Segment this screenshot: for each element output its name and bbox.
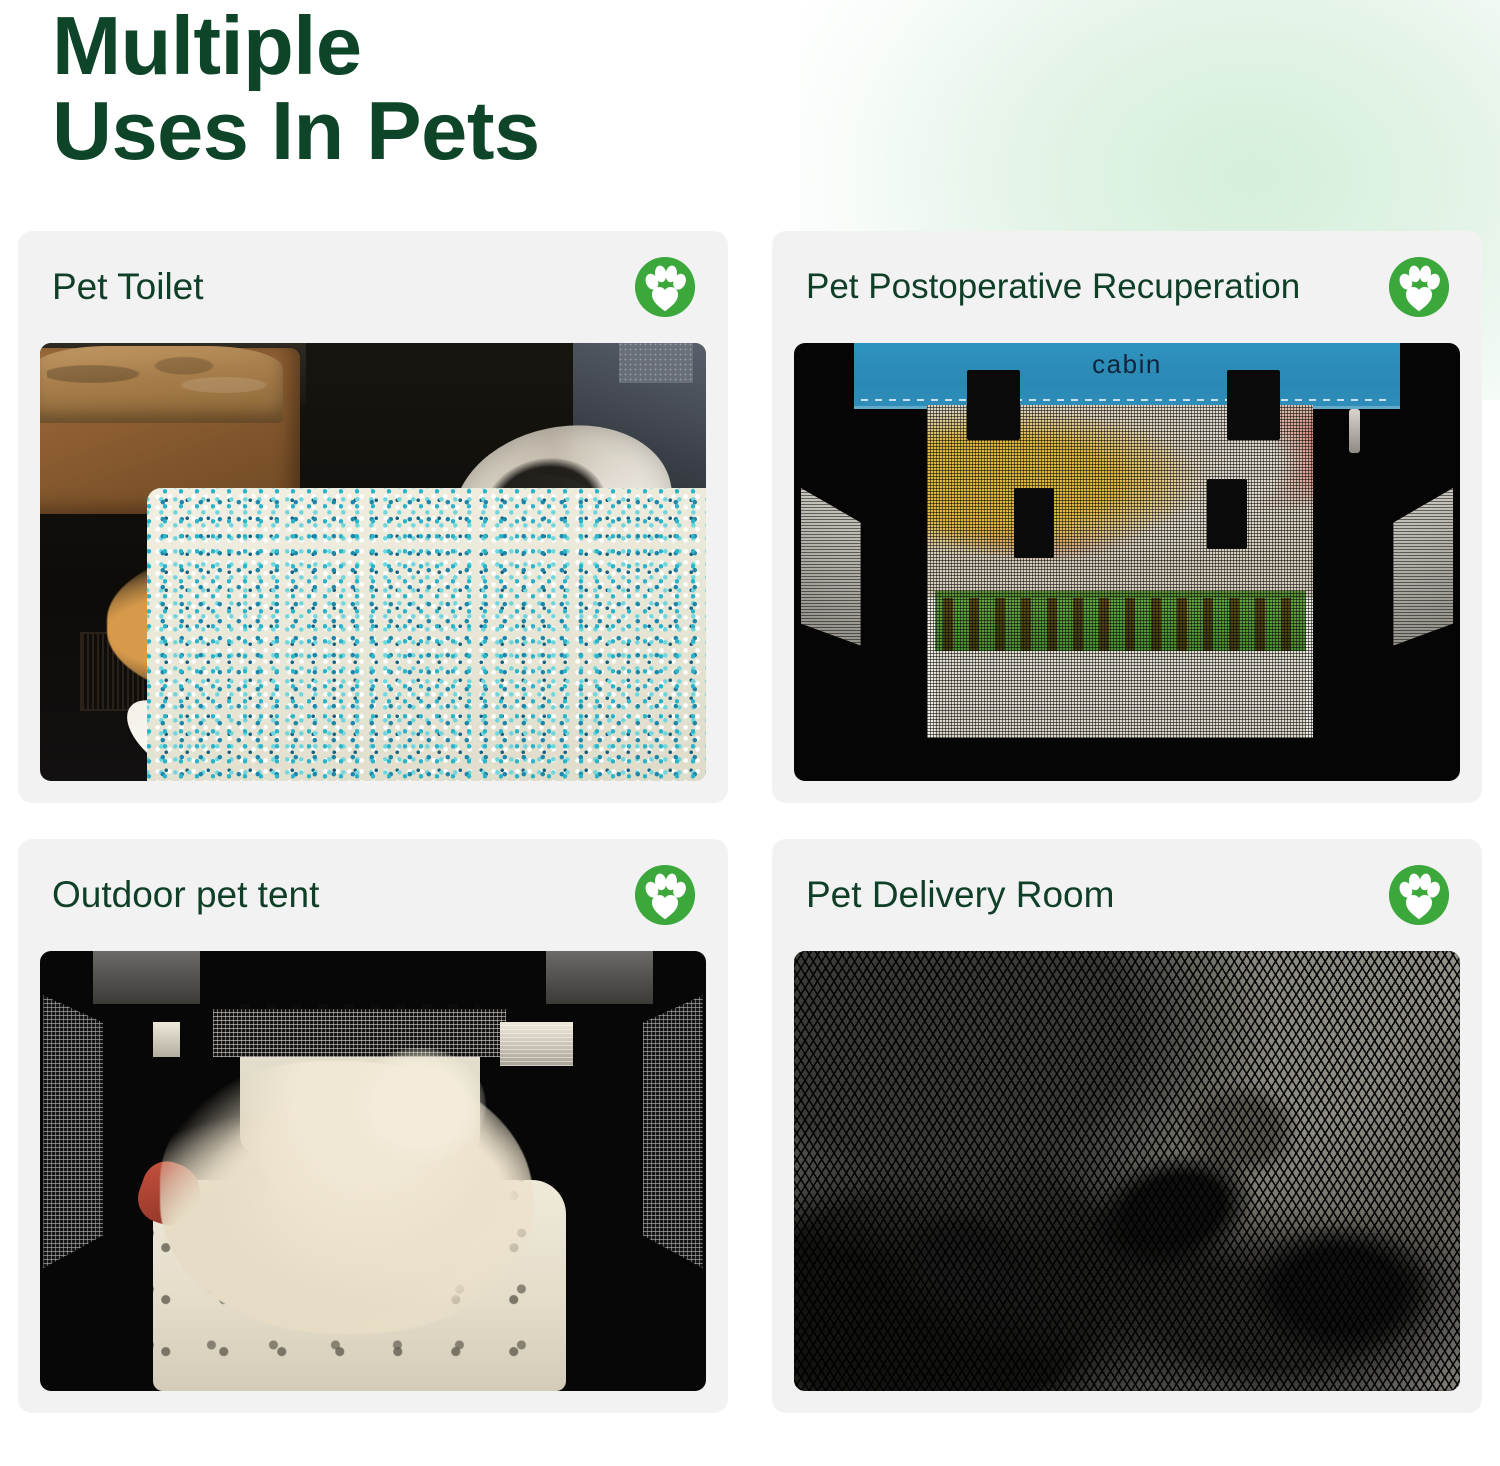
use-case-card-pet-delivery-room[interactable]: Pet Delivery Room [772, 839, 1482, 1413]
paw-print-icon [1388, 864, 1450, 926]
card-title: Pet Toilet [52, 267, 204, 308]
photo-text-cabin: cabin [794, 349, 1460, 380]
card-header: Pet Postoperative Recuperation [794, 231, 1460, 343]
card-header: Pet Delivery Room [794, 839, 1460, 951]
use-case-card-pet-postoperative-recuperation[interactable]: Pet Postoperative Recuperation cabin [772, 231, 1482, 803]
card-title: Pet Delivery Room [806, 875, 1114, 916]
card-photo-pet-delivery-room [794, 951, 1460, 1391]
page-title: Multiple Uses In Pets [18, 0, 1482, 173]
paw-print-icon [634, 864, 696, 926]
card-photo-pet-postoperative-recuperation: cabin [794, 343, 1460, 781]
card-header: Pet Toilet [40, 231, 706, 343]
card-photo-pet-toilet [40, 343, 706, 781]
paw-print-icon [634, 256, 696, 318]
card-title: Pet Postoperative Recuperation [806, 268, 1300, 307]
use-case-grid: Pet Toilet [18, 231, 1482, 1413]
card-header: Outdoor pet tent [40, 839, 706, 951]
page-root: Multiple Uses In Pets Pet Toilet [0, 0, 1500, 1413]
paw-print-icon [1388, 256, 1450, 318]
card-photo-outdoor-pet-tent [40, 951, 706, 1391]
use-case-card-pet-toilet[interactable]: Pet Toilet [18, 231, 728, 803]
use-case-card-outdoor-pet-tent[interactable]: Outdoor pet tent [18, 839, 728, 1413]
card-title: Outdoor pet tent [52, 875, 319, 916]
